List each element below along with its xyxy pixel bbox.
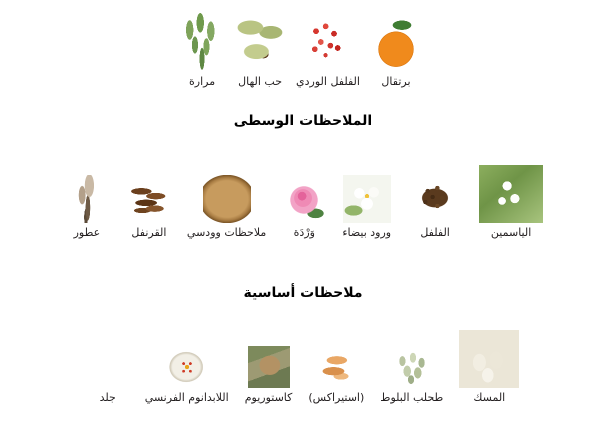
cardamom-image xyxy=(230,12,290,72)
note-label: طحلب البلوط xyxy=(380,391,443,405)
base-notes-heading: ملاحظات أساسية xyxy=(0,285,606,301)
musk-image xyxy=(459,330,519,388)
note-label: ورود بيضاء xyxy=(342,226,391,240)
note-label: جلد xyxy=(100,391,116,405)
note-label: حب الهال xyxy=(238,75,282,89)
note-item-musk[interactable]: المسك xyxy=(459,330,519,405)
middle-notes-section: عطور القرنفل ملاحظات وودسي وَرْدَة ورود … xyxy=(0,165,606,240)
base-notes-section: جلد اللابدانوم الفرنسي كاستوريوم (استيرا… xyxy=(0,330,606,405)
perfume-notes-page: مرارة حب الهال الفلفل الوردي برتقال المل… xyxy=(0,0,606,421)
note-item-cardamom[interactable]: حب الهال xyxy=(230,12,290,89)
note-item-leather[interactable]: جلد xyxy=(87,346,129,405)
oakmoss-image xyxy=(388,346,436,388)
note-item-oakmoss[interactable]: طحلب البلوط xyxy=(380,346,443,405)
note-item-wormwood[interactable]: مرارة xyxy=(180,12,224,89)
note-label: الياسمين xyxy=(491,226,531,240)
note-label: وَرْدَة xyxy=(294,226,315,240)
note-item-clove[interactable]: القرنفل xyxy=(125,175,173,240)
note-label: عطور xyxy=(74,226,101,240)
middle-notes-row: عطور القرنفل ملاحظات وودسي وَرْدَة ورود … xyxy=(0,165,606,240)
note-label: (استيراكس) xyxy=(308,391,364,405)
note-label: مرارة xyxy=(189,75,215,89)
note-item-rose[interactable]: وَرْدَة xyxy=(280,175,328,240)
white-flowers-image xyxy=(343,175,391,223)
orange-image xyxy=(366,12,426,72)
note-item-styrax[interactable]: (استيراكس) xyxy=(308,346,364,405)
note-label: الفلفل xyxy=(420,226,450,240)
base-notes-row: جلد اللابدانوم الفرنسي كاستوريوم (استيرا… xyxy=(0,330,606,405)
note-item-incense[interactable]: عطور xyxy=(63,175,111,240)
note-item-jasmine[interactable]: الياسمين xyxy=(479,165,543,240)
note-item-white-flowers[interactable]: ورود بيضاء xyxy=(342,175,391,240)
note-label: برتقال xyxy=(381,75,410,89)
note-label: اللابدانوم الفرنسي xyxy=(145,391,229,405)
note-item-woody[interactable]: ملاحظات وودسي xyxy=(187,175,266,240)
note-label: ملاحظات وودسي xyxy=(187,226,266,240)
styrax-image xyxy=(315,346,357,388)
rose-image xyxy=(280,175,328,223)
jasmine-image xyxy=(479,165,543,223)
top-notes-row: مرارة حب الهال الفلفل الوردي برتقال xyxy=(0,12,606,89)
pink-pepper-image xyxy=(298,12,358,72)
castoreum-beaver-image xyxy=(248,346,290,388)
wormwood-image xyxy=(180,12,224,72)
leather-image xyxy=(87,346,129,388)
note-item-orange[interactable]: برتقال xyxy=(366,12,426,89)
note-item-pepper[interactable]: الفلفل xyxy=(405,173,465,240)
wood-slice-image xyxy=(203,175,251,223)
note-label: القرنفل xyxy=(131,226,166,240)
black-pepper-image xyxy=(405,173,465,223)
note-label: كاستوريوم xyxy=(245,391,293,405)
note-label: المسك xyxy=(473,391,505,405)
middle-notes-heading: الملاحظات الوسطى xyxy=(0,113,606,129)
incense-smoke-image xyxy=(63,175,111,223)
note-label: الفلفل الوردي xyxy=(296,75,360,89)
note-item-labdanum[interactable]: اللابدانوم الفرنسي xyxy=(145,346,229,405)
labdanum-image xyxy=(166,346,208,388)
top-notes-section: مرارة حب الهال الفلفل الوردي برتقال xyxy=(0,12,606,89)
note-item-pink-pepper[interactable]: الفلفل الوردي xyxy=(296,12,360,89)
clove-image xyxy=(125,175,173,223)
note-item-castoreum[interactable]: كاستوريوم xyxy=(245,346,293,405)
